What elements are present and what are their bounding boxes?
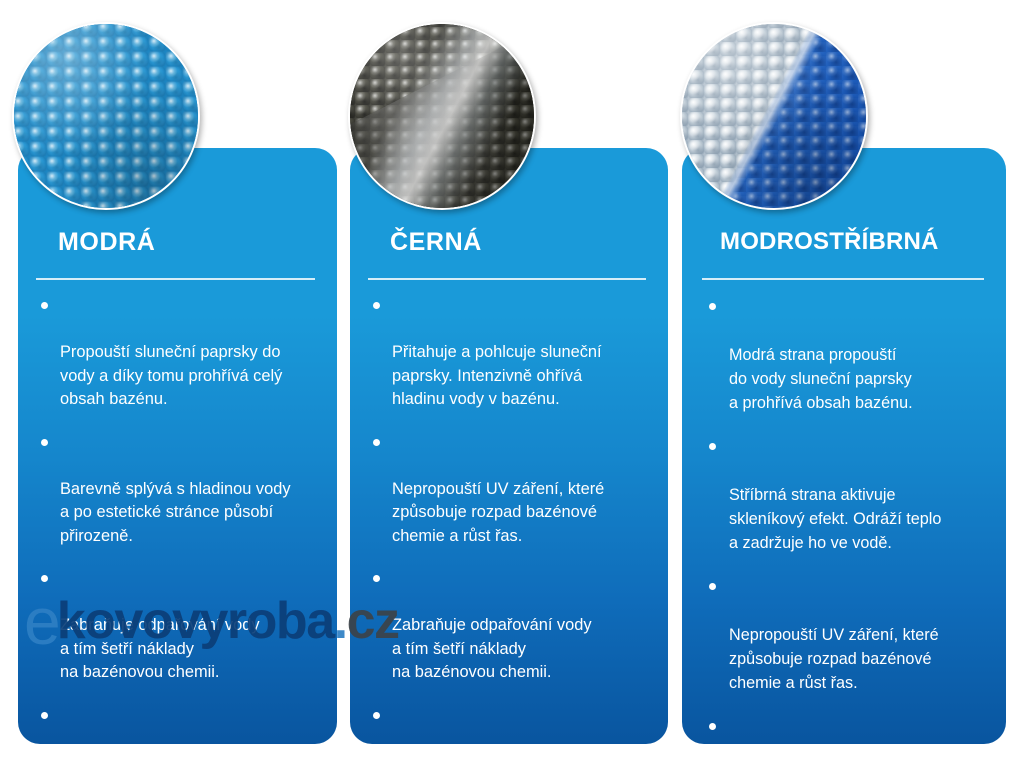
bullet-dot-icon [709, 443, 716, 450]
watermark-ekovovyroba: ekovovyroba.cz [24, 588, 398, 654]
list-item: Barevně splývá s hladinou vody a po este… [36, 431, 327, 549]
list-item-text: Modrá strana propouští do vody sluneční … [729, 346, 913, 412]
heading-divider [368, 278, 646, 280]
list-item-text: Nepropouští UV záření, které způsobuje r… [392, 480, 604, 545]
bullet-dot-icon [709, 583, 716, 590]
heading-divider [702, 278, 984, 280]
list-item: Propouští sluneční paprsky do vody a dík… [36, 294, 327, 412]
bullet-dot-icon [41, 712, 48, 719]
card-content-modra: MODRÁ Propouští sluneční paprsky do vody… [18, 148, 337, 744]
benefit-list-cerna: Přitahuje a pohlcuje sluneční paprsky. I… [368, 294, 658, 744]
list-item-text: Nepropouští UV záření, které způsobuje r… [729, 626, 939, 692]
list-item-text: Přitahuje a pohlcuje sluneční paprsky. I… [392, 343, 602, 408]
bullet-dot-icon [709, 723, 716, 730]
card-heading-modrostribrna: MODROSTŘÍBRNÁ [720, 230, 939, 254]
bullet-dot-icon [373, 302, 380, 309]
bullet-dot-icon [373, 439, 380, 446]
list-item-text: Zabraňuje odpařování vody a tím šetří ná… [392, 616, 592, 681]
swatch-texture-silver-blue [682, 24, 866, 208]
watermark-dot: . [334, 592, 347, 650]
bullet-dot-icon [41, 439, 48, 446]
list-item: Stříbrná strana aktivuje skleníkový efek… [702, 435, 996, 555]
watermark-tld: cz [347, 592, 399, 650]
list-item-text: Barevně splývá s hladinou vody a po este… [60, 480, 291, 545]
list-item: Modrá strana propouští do vody sluneční … [702, 295, 996, 415]
card-heading-cerna: ČERNÁ [390, 230, 482, 255]
benefit-list-modra: Propouští sluneční paprsky do vody a dík… [36, 294, 327, 744]
watermark-prefix: e [24, 584, 57, 658]
product-card-modra: MODRÁ Propouští sluneční paprsky do vody… [18, 148, 337, 744]
heading-divider [36, 278, 315, 280]
bullet-dot-icon [373, 712, 380, 719]
list-item: Přitahuje a pohlcuje sluneční paprsky. I… [368, 294, 658, 412]
list-item: Chrání bazén před nečistotami a prodlužu… [36, 704, 327, 745]
card-heading-modra: MODRÁ [58, 230, 155, 255]
list-item-text: Propouští sluneční paprsky do vody a dík… [60, 343, 282, 408]
watermark-main: kovovyroba [57, 592, 334, 650]
list-item-text: Stříbrná strana aktivuje skleníkový efek… [729, 486, 941, 552]
bullet-dot-icon [41, 302, 48, 309]
benefit-list-modrostribrna: Modrá strana propouští do vody sluneční … [702, 295, 996, 744]
infographic-canvas: MODRÁ Propouští sluneční paprsky do vody… [0, 0, 1024, 768]
metallic-sheen-overlay [348, 22, 536, 210]
product-card-cerna: ČERNÁ Přitahuje a pohlcuje sluneční papr… [350, 148, 668, 744]
list-item: Chrání bazén před nečistotami a prodlužu… [368, 704, 658, 745]
black-bubble-film-swatch [348, 22, 536, 210]
product-card-modrostribrna: MODROSTŘÍBRNÁ Modrá strana propouští do … [682, 148, 1006, 744]
list-item: Nepropouští UV záření, které způsobuje r… [368, 431, 658, 549]
bullet-dot-icon [709, 303, 716, 310]
card-content-modrostribrna: MODROSTŘÍBRNÁ Modrá strana propouští do … [682, 148, 1006, 744]
diagonal-seam-highlight [682, 24, 866, 208]
list-item: Zabraňuje odpařování vody a tím šetří ná… [702, 715, 996, 744]
bubble-pattern-offset [12, 22, 200, 210]
swatch-texture-black [350, 24, 534, 208]
swatch-texture-blue [14, 24, 198, 208]
bullet-dot-icon [41, 575, 48, 582]
bullet-dot-icon [373, 575, 380, 582]
list-item: Nepropouští UV záření, které způsobuje r… [702, 575, 996, 695]
list-item: Zabraňuje odpařování vody a tím šetří ná… [368, 567, 658, 685]
silver-blue-bubble-film-swatch [680, 22, 868, 210]
blue-bubble-film-swatch [12, 22, 200, 210]
card-content-cerna: ČERNÁ Přitahuje a pohlcuje sluneční papr… [350, 148, 668, 744]
